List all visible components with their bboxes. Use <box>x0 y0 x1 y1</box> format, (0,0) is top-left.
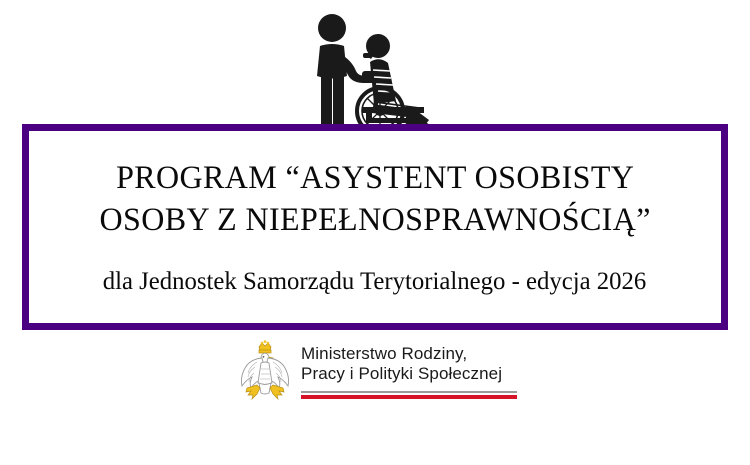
ministry-name-line-1: Ministerstwo Rodziny, <box>301 344 517 364</box>
program-banner: PROGRAM “ASYSTENT OSOBISTY OSOBY Z NIEPE… <box>22 124 728 330</box>
ministry-name-block: Ministerstwo Rodziny, Pracy i Polityki S… <box>301 340 517 399</box>
ministry-rule-red <box>301 395 517 399</box>
ministry-name-line-2: Pracy i Polityki Społecznej <box>301 364 517 384</box>
program-title-line-2: OSOBY Z NIEPEŁNOSPRAWNOŚCIĄ” <box>99 199 650 241</box>
assistant-pushing-wheelchair-icon <box>300 8 450 132</box>
program-subtitle: dla Jednostek Samorządu Terytorialnego -… <box>103 267 647 297</box>
ministry-rule-gray <box>301 391 517 393</box>
page-title: PROGRAM “ASYSTENT OSOBISTY OSOBY Z NIEPE… <box>90 157 661 241</box>
polish-eagle-emblem-icon <box>237 340 293 402</box>
assistant-pushing-wheelchair-illustration <box>300 8 450 132</box>
ministry-logo: Ministerstwo Rodziny, Pracy i Polityki S… <box>237 340 522 408</box>
program-title-line-1: PROGRAM “ASYSTENT OSOBISTY <box>99 157 650 199</box>
